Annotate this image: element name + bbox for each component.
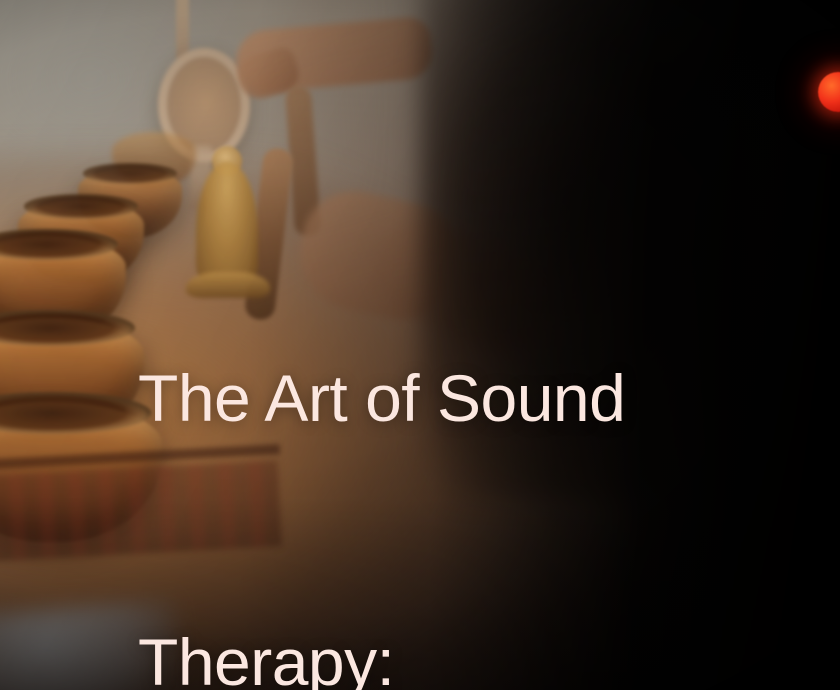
page-title: The Art of Sound Therapy: Techniques and… (138, 178, 840, 690)
page-title-line-2: Therapy: (138, 618, 840, 690)
page-title-line-1: The Art of Sound (138, 354, 840, 442)
hero-banner: The Art of Sound Therapy: Techniques and… (0, 0, 840, 690)
